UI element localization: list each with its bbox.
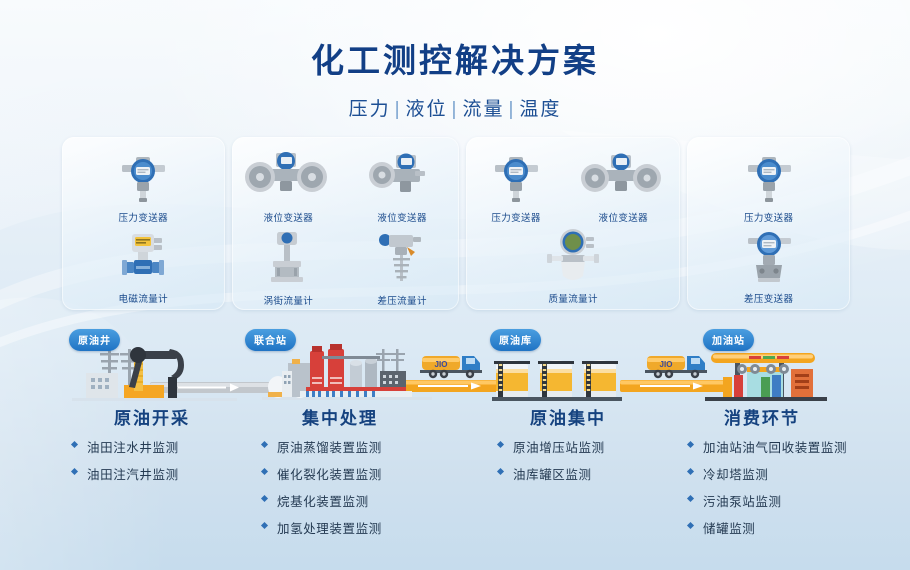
product-label: 质量流量计 bbox=[525, 291, 621, 305]
stage-items-3: 原油增压站监测 油库罐区监测 bbox=[498, 437, 605, 491]
product-card-pressure-flow[interactable]: 压力变送器 bbox=[62, 137, 225, 310]
list-item: 加油站油气回收装置监测 bbox=[688, 437, 847, 456]
differential-pressure-transmitter-icon bbox=[721, 228, 817, 286]
subtitle-separator: | bbox=[395, 99, 402, 120]
pressure-transmitter-icon bbox=[468, 147, 564, 205]
product-row-top: 液位变送器 bbox=[232, 147, 459, 224]
subtitle-item-pressure: 压力 bbox=[349, 99, 391, 120]
product-item[interactable]: 压力变送器 bbox=[468, 147, 564, 224]
list-item: 加氢处理装置监测 bbox=[262, 518, 382, 537]
product-item[interactable]: 液位变送器 bbox=[568, 147, 678, 224]
product-label: 压力变送器 bbox=[468, 210, 564, 224]
subtitle-item-temperature: 温度 bbox=[519, 99, 561, 120]
stage-items-4: 加油站油气回收装置监测 冷却塔监测 污油泵站监测 储罐监测 bbox=[688, 437, 847, 545]
subtitle-separator: | bbox=[452, 99, 459, 120]
stage-title-1: 原油开采 bbox=[62, 404, 242, 429]
list-item: 原油蒸馏装置监测 bbox=[262, 437, 382, 456]
page-title: 化工测控解决方案 bbox=[0, 34, 910, 82]
subtitle-separator: | bbox=[508, 99, 515, 120]
product-item[interactable]: 液位变送器 bbox=[240, 147, 336, 224]
stage-badge-2[interactable]: 联合站 bbox=[245, 329, 296, 351]
product-item[interactable]: 压力变送器 bbox=[721, 147, 817, 224]
product-row-top: 压力变送器 bbox=[466, 147, 680, 224]
product-card-row: 压力变送器 bbox=[62, 137, 850, 310]
product-label: 液位变送器 bbox=[240, 210, 336, 224]
stage-badge-4[interactable]: 加油站 bbox=[703, 329, 754, 351]
product-card-pressure-differential[interactable]: 压力变送器 bbox=[687, 137, 850, 310]
stage-badge-1[interactable]: 原油井 bbox=[69, 329, 120, 351]
differential-pressure-flowmeter-icon bbox=[354, 230, 450, 288]
product-label: 差压变送器 bbox=[721, 291, 817, 305]
level-transmitter-double-flange-icon bbox=[240, 147, 336, 205]
product-label: 电磁流量计 bbox=[95, 291, 191, 305]
product-item[interactable]: 差压变送器 bbox=[721, 228, 817, 305]
pressure-transmitter-icon bbox=[95, 147, 191, 205]
infographic-poster: 化工测控解决方案 压力|液位|流量|温度 bbox=[0, 0, 910, 570]
product-card-pressure-level-mass[interactable]: 压力变送器 bbox=[466, 137, 680, 310]
list-item: 污油泵站监测 bbox=[688, 491, 847, 510]
stage-title-4: 消费环节 bbox=[672, 404, 852, 429]
list-item: 烷基化装置监测 bbox=[262, 491, 382, 510]
product-row-bottom: 涡街流量计 bbox=[232, 230, 459, 307]
product-label: 压力变送器 bbox=[95, 210, 191, 224]
electromagnetic-flowmeter-icon bbox=[95, 228, 191, 286]
list-item: 储罐监测 bbox=[688, 518, 847, 537]
list-item: 催化裂化装置监测 bbox=[262, 464, 382, 483]
stage-title-2: 集中处理 bbox=[250, 404, 430, 429]
list-item: 冷却塔监测 bbox=[688, 464, 847, 483]
product-label: 液位变送器 bbox=[568, 210, 678, 224]
product-row-bottom: 质量流量计 bbox=[466, 228, 680, 305]
product-item[interactable]: 质量流量计 bbox=[525, 228, 621, 305]
product-label: 差压流量计 bbox=[354, 293, 450, 307]
stage-badge-3[interactable]: 原油库 bbox=[490, 329, 541, 351]
subtitle-item-level: 液位 bbox=[406, 99, 448, 120]
stage-title-3: 原油集中 bbox=[478, 404, 658, 429]
product-item[interactable]: 涡街流量计 bbox=[240, 230, 336, 307]
pressure-transmitter-icon bbox=[721, 147, 817, 205]
vortex-flowmeter-icon bbox=[240, 230, 336, 288]
subtitle-item-flow: 流量 bbox=[462, 99, 504, 120]
mass-flowmeter-icon bbox=[525, 228, 621, 286]
poster-header: 化工测控解决方案 压力|液位|流量|温度 bbox=[0, 34, 910, 121]
list-item: 油库罐区监测 bbox=[498, 464, 605, 483]
tanker-truck-icon: JIO bbox=[645, 349, 713, 379]
truck-label: JIO bbox=[435, 360, 448, 369]
level-transmitter-double-flange-icon bbox=[568, 147, 678, 205]
product-item[interactable]: 液位变送器 bbox=[354, 147, 450, 224]
product-label: 压力变送器 bbox=[721, 210, 817, 224]
list-item: 原油增压站监测 bbox=[498, 437, 605, 456]
product-item[interactable]: 压力变送器 bbox=[95, 147, 191, 224]
list-item: 油田注水井监测 bbox=[72, 437, 179, 456]
product-item[interactable]: 差压流量计 bbox=[354, 230, 450, 307]
product-label: 液位变送器 bbox=[354, 210, 450, 224]
stage-items-1: 油田注水井监测 油田注汽井监测 bbox=[72, 437, 179, 491]
tanker-truck-icon: JIO bbox=[420, 349, 488, 379]
page-subtitle: 压力|液位|流量|温度 bbox=[0, 94, 910, 121]
level-transmitter-single-flange-icon bbox=[354, 147, 450, 205]
product-card-level-flow[interactable]: 液位变送器 bbox=[232, 137, 459, 310]
storage-tanks-scene bbox=[492, 347, 622, 403]
list-item: 油田注汽井监测 bbox=[72, 464, 179, 483]
stage-items-2: 原油蒸馏装置监测 催化裂化装置监测 烷基化装置监测 加氢处理装置监测 bbox=[262, 437, 382, 545]
product-label: 涡街流量计 bbox=[240, 293, 336, 307]
product-item[interactable]: 电磁流量计 bbox=[95, 228, 191, 305]
truck-label: JIO bbox=[660, 360, 673, 369]
